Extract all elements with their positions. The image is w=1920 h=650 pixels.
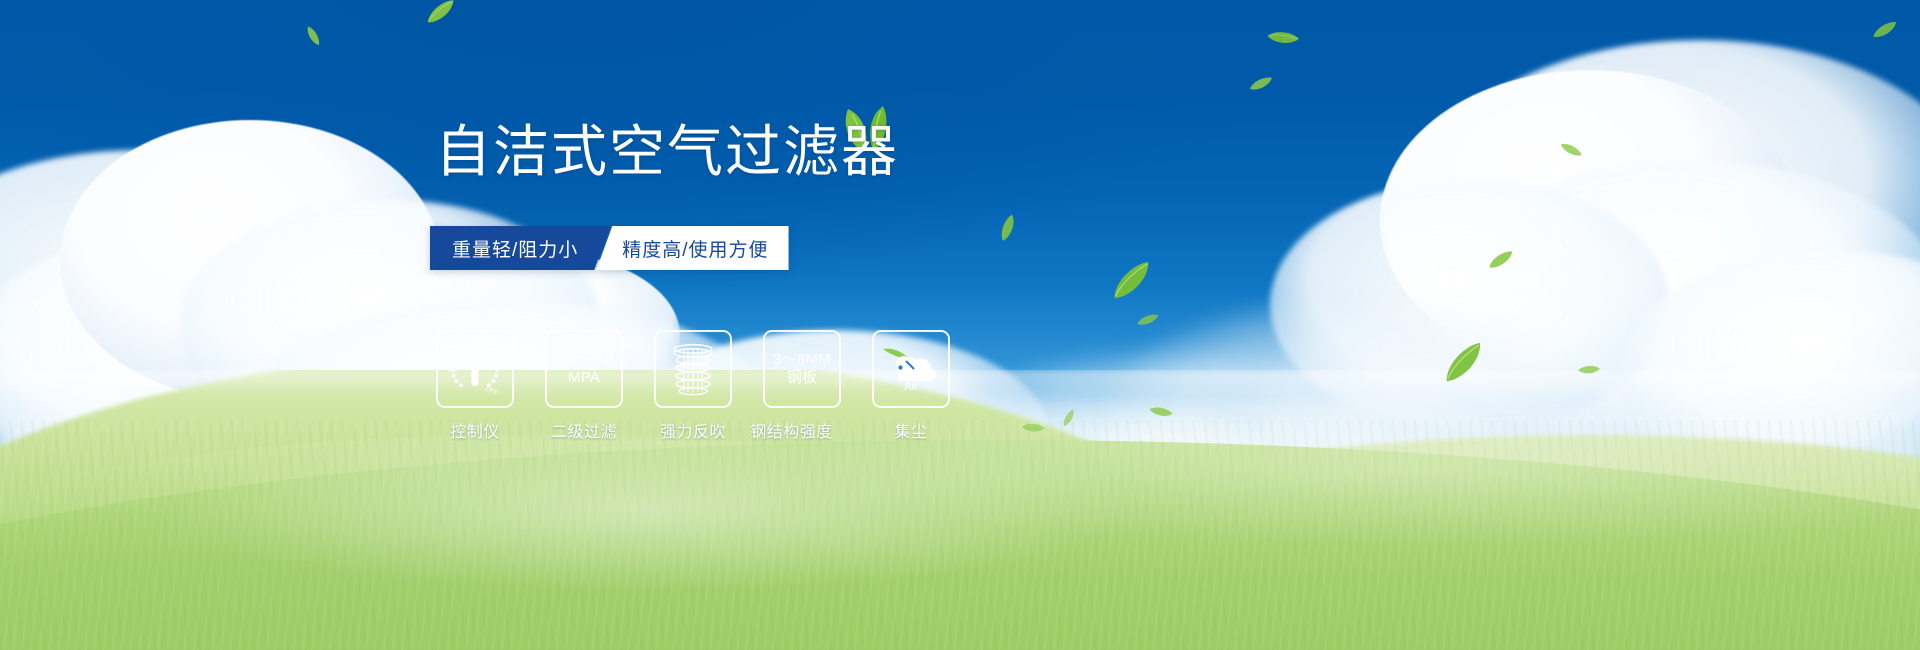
feature-box (654, 330, 732, 408)
feature-item-pressure: 0.6～0.8 MPA 二级过滤 (545, 330, 623, 442)
svg-text:Air: Air (904, 381, 918, 393)
feature-caption: 控制仪 (450, 418, 500, 442)
gauge-dial-icon: NO OFF (445, 343, 505, 395)
feature-item-dust-collection: Air 集尘 (872, 330, 950, 442)
air-cloud-icon: Air (880, 345, 942, 393)
feature-caption: 二级过滤 (551, 418, 617, 442)
product-hero-banner: 自洁式空气过滤器 重量轻/阻力小 精度高/使用方便 (0, 0, 1920, 650)
page-title: 自洁式空气过滤器 (435, 124, 899, 180)
tag-precision-convenience: 精度高/使用方便 (596, 226, 788, 270)
feature-icon-row: NO OFF 控制仪 0.6～0.8 MPA 二级过滤 (436, 330, 950, 442)
tag-lightweight-lowresistance: 重量轻/阻力小 (430, 226, 610, 270)
feature-box-line2: MPA (568, 369, 600, 387)
feature-box-line1: 0.6～0.8 (555, 351, 613, 369)
feature-box: NO OFF (436, 330, 514, 408)
feature-box: Air (872, 330, 950, 408)
feature-box: 0.6～0.8 MPA (545, 330, 623, 408)
feature-box-line2: 钢板 (787, 369, 817, 387)
banner-content: 自洁式空气过滤器 重量轻/阻力小 精度高/使用方便 (0, 0, 1920, 650)
feature-caption: 钢结构强度 (732, 418, 852, 442)
feature-tag-bar: 重量轻/阻力小 精度高/使用方便 (430, 226, 789, 270)
feature-item-steel-strength: 3～8MM 钢板 钢结构强度 (763, 330, 841, 442)
feature-item-backblow: 强力反吹 (654, 330, 732, 442)
feature-caption: 强力反吹 (660, 418, 726, 442)
feature-box-line1: 3～8MM (773, 351, 831, 369)
svg-text:NO: NO (447, 364, 461, 376)
feature-caption: 集尘 (894, 418, 927, 442)
feature-item-controller: NO OFF 控制仪 (436, 330, 514, 442)
feature-box: 3～8MM 钢板 (763, 330, 841, 408)
filter-cartridge-icon (666, 341, 720, 397)
svg-text:OFF: OFF (484, 385, 499, 395)
